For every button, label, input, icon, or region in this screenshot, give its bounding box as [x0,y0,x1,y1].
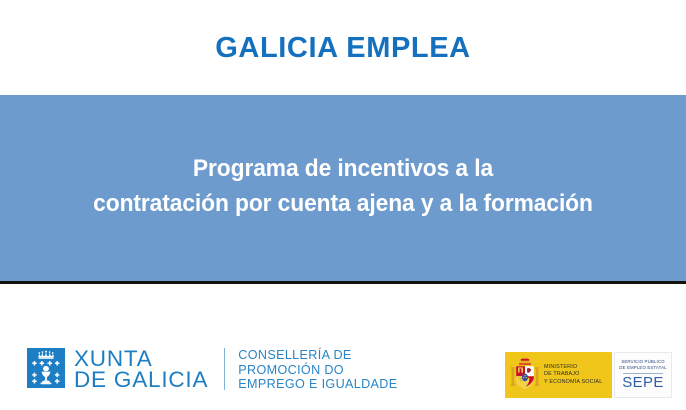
xunta-de-galicia-logo: XUNTA DE GALICIA CONSELLERÍA DE PROMOCIÓ… [27,347,398,392]
sepe-tagline-line-2: DE EMPLEO ESTATAL [619,365,666,371]
conselleria-line-3: EMPREGO E IGUALDADE [238,377,397,392]
galicia-coat-of-arms-icon [27,348,65,388]
spain-coat-of-arms-icon [510,357,540,393]
ministerio-text: MINISTERIO DE TRABAJO Y ECONOMÍA SOCIAL [544,364,602,386]
program-banner: Programa de incentivos a la contratación… [0,95,686,284]
banner-line-2: contratación por cuenta ajena y a la for… [24,186,662,221]
sepe-wordmark: SEPE [622,375,664,391]
sepe-tagline: SERVICIO PÚBLICO DE EMPLEO ESTATAL [619,359,666,370]
footer-logo-strip: XUNTA DE GALICIA CONSELLERÍA DE PROMOCIÓ… [0,284,686,410]
xunta-wordmark-line-2: DE GALICIA [74,369,208,390]
xunta-wordmark-line-1: XUNTA [74,348,208,369]
logo-divider [224,348,225,390]
program-banner-text: Programa de incentivos a la contratación… [24,151,662,221]
xunta-wordmark: XUNTA DE GALICIA [74,347,208,392]
ministerio-line-2: DE TRABAJO [544,371,602,378]
sepe-logo: SERVICIO PÚBLICO DE EMPLEO ESTATAL SEPE [614,352,672,398]
conselleria-line-2: PROMOCIÓN DO [238,363,397,378]
ministerio-line-3: Y ECONOMÍA SOCIAL [544,379,602,386]
page-title: GALICIA EMPLEA [0,31,686,65]
ministerio-line-1: MINISTERIO [544,364,602,371]
ministerio-de-trabajo-logo: MINISTERIO DE TRABAJO Y ECONOMÍA SOCIAL [505,352,612,398]
banner-line-1: Programa de incentivos a la [24,151,662,186]
conselleria-name: CONSELLERÍA DE PROMOCIÓN DO EMPREGO E IG… [238,347,397,392]
conselleria-line-1: CONSELLERÍA DE [238,348,397,363]
